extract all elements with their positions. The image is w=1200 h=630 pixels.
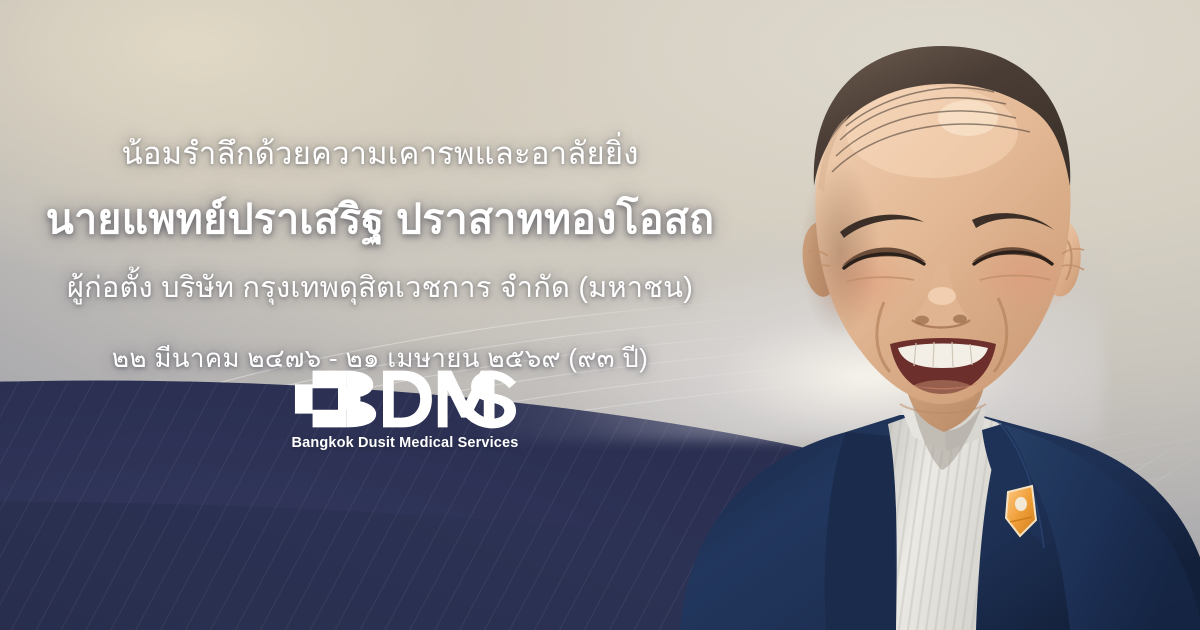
honoree-name: นายแพทย์ปราเสริฐ ปราสาททองโอสถ	[0, 187, 760, 252]
memorial-text-block: น้อมรำลึกด้วยความเคารพและอาลัยยิ่ง นายแพ…	[0, 128, 760, 379]
bdms-tagline: Bangkok Dusit Medical Services	[290, 435, 520, 451]
memorial-graphic: น้อมรำลึกด้วยความเคารพและอาลัยยิ่ง นายแพ…	[0, 0, 1200, 630]
bdms-logo: Bangkok Dusit Medical Services	[290, 368, 520, 451]
portrait-suit	[680, 402, 1200, 630]
tribute-line: น้อมรำลึกด้วยความเคารพและอาลัยยิ่ง	[0, 128, 760, 178]
bdms-cross-b-mark	[293, 368, 518, 430]
honoree-title: ผู้ก่อตั้ง บริษัท กรุงเทพดุสิตเวชการ จำก…	[0, 264, 760, 310]
